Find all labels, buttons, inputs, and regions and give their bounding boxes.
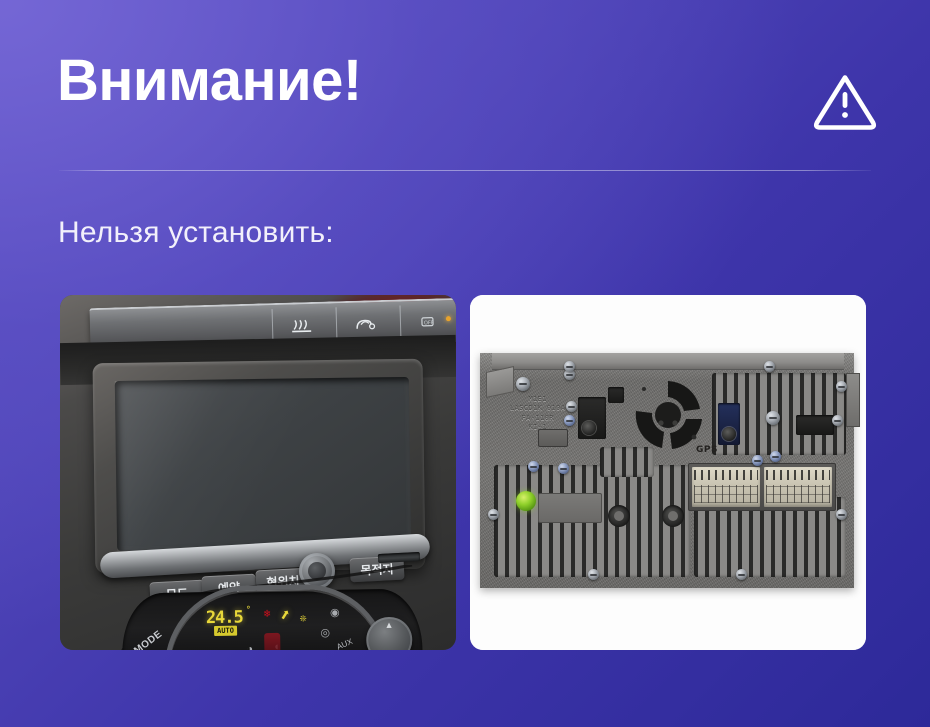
screw-top-right	[766, 411, 780, 425]
antenna-jack-icon	[582, 421, 596, 435]
fan-icon: ❄	[264, 607, 271, 620]
screw-rail-right	[764, 361, 775, 372]
chassis-top-rail	[492, 353, 844, 370]
screw-right-lower	[836, 509, 847, 520]
aux-socket	[796, 415, 834, 435]
gps-socket	[718, 403, 740, 445]
screw-right-mid	[752, 455, 763, 466]
screw-right-edge	[832, 415, 843, 426]
screw-left-lower	[528, 461, 539, 472]
screw-bottom-left	[488, 509, 499, 520]
lcd-degree-symbol: °	[246, 605, 252, 615]
embossed-part-number: M1E1LASCD1K 010AFA-110RKI-1	[510, 395, 565, 433]
header-divider	[59, 170, 871, 171]
screw-bottom-center	[588, 569, 599, 580]
red-lever	[264, 633, 280, 650]
screw-bottom-right	[736, 569, 747, 580]
connector-block-2	[764, 467, 832, 507]
screw-right-top	[836, 381, 847, 392]
screen-glare	[115, 377, 411, 551]
side-tab	[846, 373, 860, 427]
connector-block-1	[692, 467, 760, 507]
vent-icon-4: ◑	[246, 643, 253, 650]
card-right-head-unit-rear: M1E1LASCD1K 010AFA-110RKI-1 GPS	[470, 295, 866, 650]
card-left-dashboard: OFF 모드 예약 현위치 목적지	[60, 295, 456, 650]
screw-left-lower-2	[558, 463, 569, 474]
climate-lcd-display: 24.5 ° AUTO ❄ ⬈ ❊	[206, 604, 317, 640]
mount-hole-1	[608, 505, 630, 527]
head-unit-chassis: M1E1LASCD1K 010AFA-110RKI-1 GPS	[480, 353, 854, 588]
warning-triangle-icon	[812, 71, 878, 131]
screw-top-left	[516, 377, 530, 391]
seat-airflow-icon: ⬈	[278, 604, 293, 627]
label-recess	[538, 429, 568, 447]
screw-center-top	[566, 401, 577, 412]
photo-car-dashboard: OFF 모드 예약 현위치 목적지	[60, 295, 456, 650]
dab-socket	[608, 387, 624, 403]
screw-mid-left	[564, 415, 575, 426]
blower-icon: ❊	[300, 611, 307, 624]
head-unit-screen	[115, 377, 411, 551]
mount-hole-2	[662, 505, 684, 527]
climate-control-console: 24.5 ° AUTO ❄ ⬈ ❊ MODE AUX ◉ ◎ ◐ ◑ ▲ ▼	[121, 588, 422, 650]
indicator-led	[446, 316, 451, 321]
antenna-socket	[578, 397, 606, 439]
svg-text:OFF: OFF	[424, 320, 434, 326]
wire-harness-connectors	[688, 463, 836, 511]
lcd-auto-badge: AUTO	[214, 626, 237, 636]
green-indicator	[516, 491, 536, 511]
subtitle-label: Нельзя установить:	[58, 216, 334, 250]
screw-right-mid-2	[770, 451, 781, 462]
fan-cutout-icon	[628, 375, 708, 455]
mounting-bracket	[486, 366, 514, 398]
gps-jack-icon	[722, 427, 736, 441]
screw-rail-left	[564, 361, 575, 372]
warning-slide: Внимание! Нельзя установить:	[0, 0, 930, 727]
page-title: Внимание!	[57, 52, 362, 110]
photo-head-unit-rear: M1E1LASCD1K 010AFA-110RKI-1 GPS	[470, 295, 866, 650]
blank-plate	[538, 493, 602, 523]
chevron-up-icon: ▲	[384, 620, 393, 630]
mode-label: MODE	[132, 629, 164, 650]
gps-port-label: GPS	[696, 445, 718, 455]
